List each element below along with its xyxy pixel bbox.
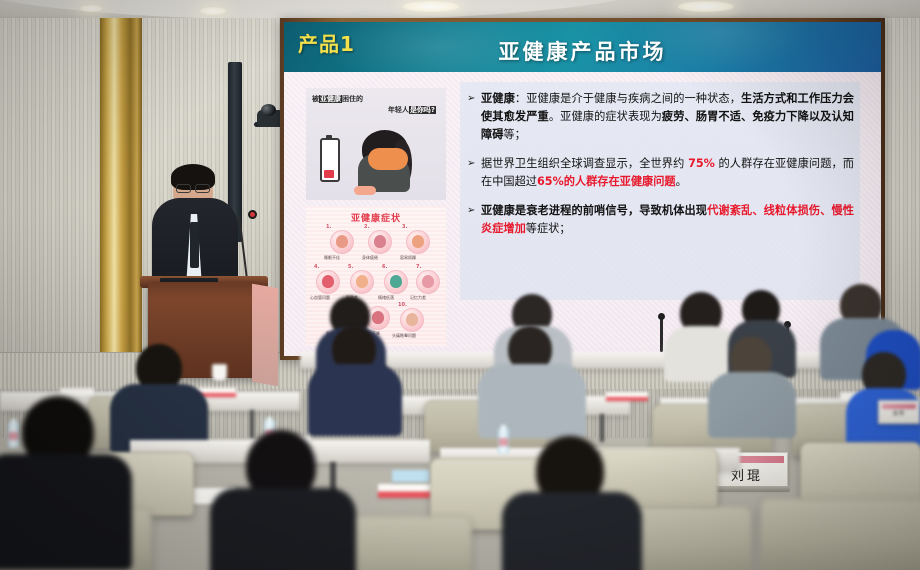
bullet1-seg1: 亚健康	[481, 92, 515, 105]
symptom-icon-6	[384, 270, 408, 294]
table-mic-stem-1	[660, 318, 663, 352]
bullet1-seg2: ：亚健康是介于健康与疾病之间的一种状态，	[515, 92, 741, 105]
ceiling-light-1	[80, 5, 102, 12]
slide-body: 被亚健康困住的 年轻人是你吗? 亚健康症状 1. 睡眠不佳 2.	[284, 72, 881, 356]
audience-body	[502, 492, 642, 570]
brass-pilaster-left	[100, 18, 142, 360]
ceiling-light-3	[403, 1, 459, 12]
conference-room-photo: 产品1 亚健康产品市场 被亚健康困住的 年轻人是你吗?	[0, 0, 920, 570]
symptoms-infographic: 亚健康症状 1. 睡眠不佳 2. 身体疲倦 3. 容易烦躁 4. 心血管问题 5…	[306, 206, 446, 346]
symptom-icon-10	[400, 308, 424, 332]
slide-illustration: 被亚健康困住的 年轻人是你吗?	[306, 88, 446, 200]
figure-foot	[354, 186, 376, 195]
symptom-label-1: 睡眠不佳	[324, 255, 340, 261]
symptom-icon-3	[406, 230, 430, 254]
bullet1-seg4: 。亚健康的症状表现为	[549, 110, 662, 123]
bullet3-seg1: 亚健康是衰老进程的前哨信号，导致机体出现	[481, 204, 707, 217]
placard-name: 张伟	[879, 410, 919, 417]
slide-bullet-1: ➢亚健康：亚健康是介于健康与疾病之间的一种状态，生活方式和工作压力会使其愈发严重…	[466, 82, 854, 144]
water-bottle-4	[498, 428, 509, 454]
symptom-label-3: 容易烦躁	[400, 255, 416, 261]
presenter-glasses-icon	[176, 184, 210, 191]
projection-screen-frame: 产品1 亚健康产品市场 被亚健康困住的 年轻人是你吗?	[280, 18, 885, 360]
slide-text-panel: ➢亚健康：亚健康是介于健康与疾病之间的一种状态，生活方式和工作压力会使其愈发严重…	[460, 82, 860, 300]
desk-leg-1	[250, 410, 254, 438]
chair-r3-4	[800, 442, 920, 502]
presenter-tie	[190, 222, 199, 268]
slide-header: 产品1 亚健康产品市场	[284, 22, 881, 72]
bullet-marker-2: ➢	[467, 155, 475, 173]
bullet2-seg4: 65%的人群存在亚健康问题	[537, 175, 676, 188]
audience-body	[0, 454, 132, 570]
symptom-icon-5	[350, 270, 374, 294]
caption-line1-highlight: 亚健康	[319, 95, 342, 103]
bullet-marker-1: ➢	[467, 90, 475, 108]
symptom-label-6: 情绪低落	[378, 295, 394, 301]
bullet2-seg1: 据世界卫生组织全球调查显示，全世界约	[481, 157, 688, 170]
desk-paper-7	[392, 470, 430, 482]
symptom-icon-7	[416, 270, 440, 294]
symptom-num-1: 1.	[326, 224, 331, 230]
symptom-label-4: 心血管问题	[310, 295, 330, 301]
audience-body	[708, 372, 796, 438]
low-battery-icon	[320, 138, 340, 182]
symptom-num-3: 3.	[402, 224, 407, 230]
desk-row-1	[300, 352, 900, 369]
symptoms-title: 亚健康症状	[306, 211, 446, 224]
symptom-num-2: 2.	[364, 224, 369, 230]
bullet-marker-3: ➢	[467, 202, 475, 220]
symptom-label-2: 身体疲倦	[362, 255, 378, 261]
symptom-num-5: 5.	[348, 264, 353, 270]
caption-line2-pre: 年轻人	[388, 106, 409, 114]
placard-accent-bar	[882, 404, 916, 409]
symptom-label-7: 记忆力差	[410, 295, 426, 301]
chair-foreground-4	[760, 498, 920, 570]
ceiling-light-2	[200, 7, 226, 15]
microphone-icon	[248, 210, 257, 219]
table-mic-head-1	[658, 313, 665, 320]
illustration-caption: 被亚健康困住的 年轻人是你吗?	[312, 94, 442, 116]
bullet2-seg2: 75%	[688, 157, 715, 170]
podium-side-panel	[252, 284, 278, 387]
caption-line1-post: 困住的	[342, 95, 363, 103]
caption-line1-pre: 被	[312, 95, 319, 103]
paper-cup-2	[212, 364, 227, 381]
symptom-num-6: 6.	[382, 264, 387, 270]
water-bottle-1	[8, 422, 19, 448]
ceiling-light-4	[678, 1, 734, 12]
bullet2-seg5: 。	[676, 175, 687, 188]
name-placard-secondary: 张伟	[878, 400, 920, 424]
bullet1-seg6: 等；	[503, 128, 525, 141]
symptom-num-4: 4.	[314, 264, 319, 270]
desk-paper-1	[60, 388, 94, 396]
symptom-num-10: 10.	[398, 302, 407, 308]
symptom-icon-4	[316, 270, 340, 294]
slide-bullet-2: ➢据世界卫生组织全球调查显示，全世界约 75% 的人群存在亚健康问题，而在中国超…	[466, 155, 854, 191]
desk-leg-2	[600, 414, 604, 442]
symptom-label-10: 头痛眩晕问题	[392, 333, 416, 339]
slide-bullet-3: ➢亚健康是衰老进程的前哨信号，导致机体出现代谢紊乱、线粒体损伤、慢性炎症增加等症…	[466, 202, 854, 238]
audience-body	[210, 488, 356, 570]
caption-line2-highlight: 是你吗?	[409, 106, 436, 114]
figure-arm	[368, 148, 408, 170]
audience-body	[308, 364, 402, 436]
audience-body	[478, 364, 586, 438]
desk-paper-3	[606, 392, 648, 401]
symptom-icon-2	[368, 230, 392, 254]
projection-screen: 产品1 亚健康产品市场 被亚健康困住的 年轻人是你吗?	[284, 22, 881, 356]
symptom-icon-1	[330, 230, 354, 254]
bullet3-seg3: 等症状；	[526, 222, 571, 235]
symptom-num-7: 7.	[416, 264, 421, 270]
slide-title: 亚健康产品市场	[284, 36, 881, 66]
